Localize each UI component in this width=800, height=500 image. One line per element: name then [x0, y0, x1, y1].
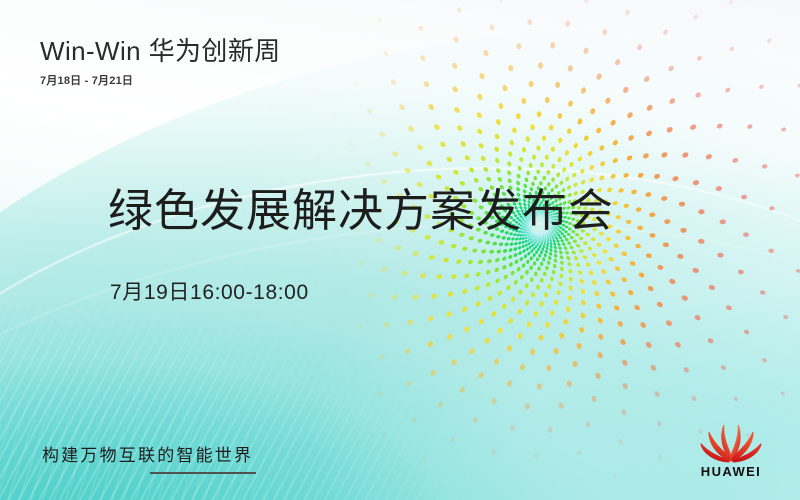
corporate-tagline: 构建万物互联的智能世界 [42, 441, 256, 466]
huawei-petal-logo-icon [700, 423, 762, 463]
brand-block: Win-Win 华为创新周 7月18日 - 7月21日 [40, 38, 281, 88]
event-name: Win-Win 华为创新周 [40, 38, 281, 65]
huawei-wordmark: HUAWEI [688, 465, 774, 478]
session-schedule: 7月19日16:00-18:00 [110, 276, 309, 306]
page-title: 绿色发展解决方案发布会 [108, 186, 614, 236]
tagline-divider [150, 472, 256, 474]
poster-canvas: Win-Win 华为创新周 7月18日 - 7月21日 绿色发展解决方案发布会 … [0, 0, 800, 500]
huawei-logo: HUAWEI [688, 423, 774, 478]
event-dates: 7月18日 - 7月21日 [40, 72, 281, 88]
tagline-block: 构建万物互联的智能世界 [42, 441, 256, 474]
